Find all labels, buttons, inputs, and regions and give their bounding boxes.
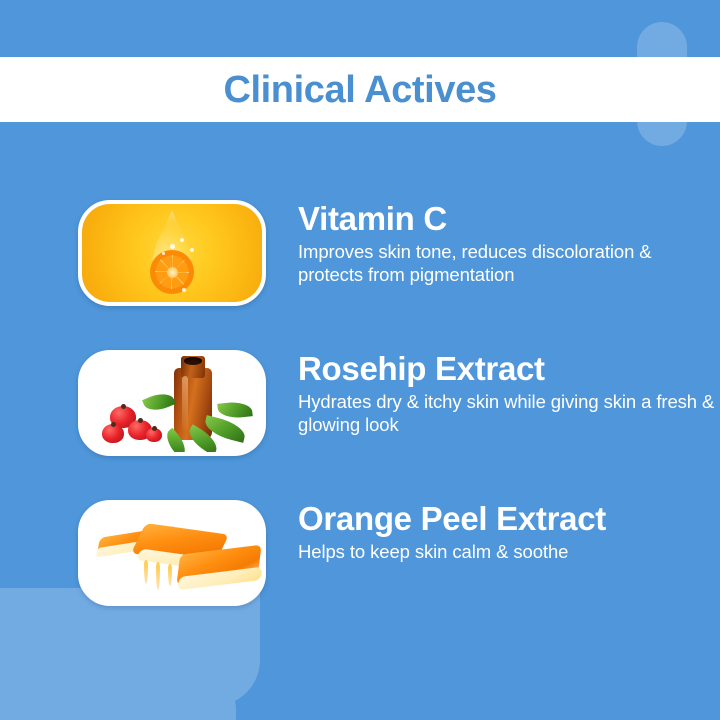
vitamin-c-thumbnail (78, 200, 266, 306)
ingredient-name: Rosehip Extract (298, 352, 720, 386)
sparkle-icon (162, 252, 165, 255)
juice-drip-shape (144, 560, 148, 584)
bottle-highlight (182, 376, 188, 430)
page-title: Clinical Actives (223, 71, 496, 109)
orange-peel-text-block: Orange Peel Extract Helps to keep skin c… (298, 500, 720, 606)
juice-drip-shape (156, 562, 160, 590)
rosehip-text-block: Rosehip Extract Hydrates dry & itchy ski… (298, 350, 720, 456)
rosehip-oil-bottle-berries-icon (82, 354, 262, 452)
ingredient-row-orange-peel-extract: Orange Peel Extract Helps to keep skin c… (0, 500, 720, 606)
orange-slice-shape (150, 250, 194, 294)
juice-drip-shape (168, 564, 172, 586)
rosehip-berry-shape (102, 424, 124, 443)
clinical-actives-poster: Clinical Actives Vitamin C Improves skin… (0, 0, 720, 720)
sparkle-icon (190, 248, 194, 252)
sparkle-icon (182, 288, 186, 292)
vitamin-c-droplet-orange-slice-icon (82, 204, 262, 302)
rosehip-thumbnail (78, 350, 266, 456)
orange-peel-strips-icon (82, 504, 262, 602)
ingredient-description: Helps to keep skin calm & soothe (298, 541, 718, 564)
sparkle-icon (170, 244, 175, 249)
vitamin-c-text-block: Vitamin C Improves skin tone, reduces di… (298, 200, 720, 306)
ingredient-description: Improves skin tone, reduces discoloratio… (298, 241, 718, 286)
ingredient-description: Hydrates dry & itchy skin while giving s… (298, 391, 718, 436)
rosehip-berry-shape (146, 428, 162, 442)
ingredient-name: Orange Peel Extract (298, 502, 720, 536)
orange-peel-thumbnail (78, 500, 266, 606)
ingredient-name: Vitamin C (298, 202, 720, 236)
ingredient-row-rosehip-extract: Rosehip Extract Hydrates dry & itchy ski… (0, 350, 720, 456)
bottle-neck-shape (181, 356, 205, 378)
leaf-shape (142, 389, 176, 415)
title-banner: Clinical Actives (0, 57, 720, 122)
leaf-shape (217, 400, 252, 419)
sparkle-icon (180, 238, 184, 242)
ingredient-row-vitamin-c: Vitamin C Improves skin tone, reduces di… (0, 200, 720, 306)
